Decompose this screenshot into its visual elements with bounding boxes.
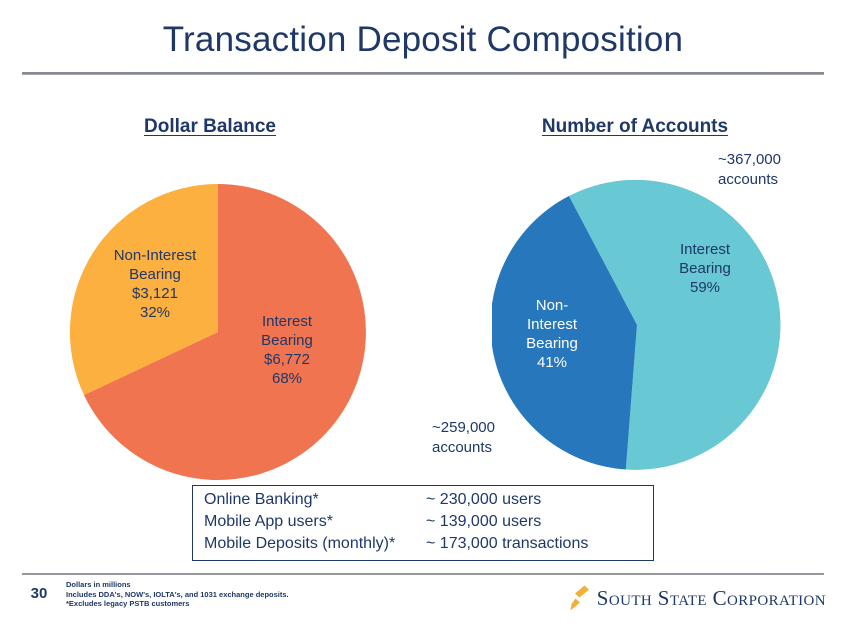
digital-stats-box: Online Banking* ~ 230,000 users Mobile A… <box>192 485 654 561</box>
slide-canvas: Transaction Deposit Composition Dollar B… <box>0 0 846 635</box>
label-percent: 59% <box>655 278 755 297</box>
footnotes: Dollars in millions Includes DDA's, NOW'… <box>66 580 289 609</box>
label-line-2: Bearing <box>90 265 220 284</box>
pie-label-accounts-interest-bearing: Interest Bearing 59% <box>655 240 755 297</box>
label-percent: 32% <box>90 303 220 322</box>
label-line-1: Interest <box>232 312 342 331</box>
footer-divider <box>22 573 824 575</box>
chart-heading-dollar-balance: Dollar Balance <box>0 116 420 138</box>
callout-line-2: accounts <box>718 170 781 190</box>
stats-row-label: Online Banking* <box>204 491 426 509</box>
stats-row-label: Mobile Deposits (monthly)* <box>204 535 426 553</box>
company-logo: South State Corporation <box>570 583 826 613</box>
page-number: 30 <box>26 585 52 602</box>
label-value: $3,121 <box>90 284 220 303</box>
footnote-line-1: Dollars in millions <box>66 580 289 590</box>
stats-row: Online Banking* ~ 230,000 users <box>204 491 653 513</box>
label-value: $6,772 <box>232 350 342 369</box>
stats-row-value: ~ 139,000 users <box>426 513 653 531</box>
stats-row-value: ~ 173,000 transactions <box>426 535 653 553</box>
pie-label-dollar-non-interest-bearing: Non-Interest Bearing $3,121 32% <box>90 246 220 322</box>
pie-label-dollar-interest-bearing: Interest Bearing $6,772 68% <box>232 312 342 388</box>
label-percent: 41% <box>502 353 602 372</box>
label-line-1: Interest <box>655 240 755 259</box>
label-line-2: Interest <box>502 315 602 334</box>
title-divider <box>22 72 824 75</box>
label-line-2: Bearing <box>655 259 755 278</box>
label-line-1: Non- <box>502 296 602 315</box>
label-line-2: Bearing <box>232 331 342 350</box>
stats-row: Mobile App users* ~ 139,000 users <box>204 513 653 535</box>
label-line-1: Non-Interest <box>90 246 220 265</box>
callout-accounts-non-interest-bearing: ~259,000 accounts <box>432 418 495 458</box>
callout-line-2: accounts <box>432 438 495 458</box>
callout-line-1: ~259,000 <box>432 418 495 438</box>
pie-label-accounts-non-interest-bearing: Non- Interest Bearing 41% <box>502 296 602 372</box>
label-percent: 68% <box>232 369 342 388</box>
stats-row: Mobile Deposits (monthly)* ~ 173,000 tra… <box>204 535 653 557</box>
footnote-line-3: *Excludes legacy PSTB customers <box>66 599 289 609</box>
page-title: Transaction Deposit Composition <box>0 20 846 60</box>
footnote-line-2: Includes DDA's, NOW's, IOLTA's, and 1031… <box>66 590 289 600</box>
chart-heading-number-of-accounts: Number of Accounts <box>425 116 845 138</box>
company-logo-text: South State Corporation <box>597 586 826 611</box>
callout-line-1: ~367,000 <box>718 150 781 170</box>
stats-row-label: Mobile App users* <box>204 513 426 531</box>
stats-row-value: ~ 230,000 users <box>426 491 653 509</box>
south-state-s-mark-icon <box>570 585 590 611</box>
callout-accounts-interest-bearing: ~367,000 accounts <box>718 150 781 190</box>
label-line-3: Bearing <box>502 334 602 353</box>
